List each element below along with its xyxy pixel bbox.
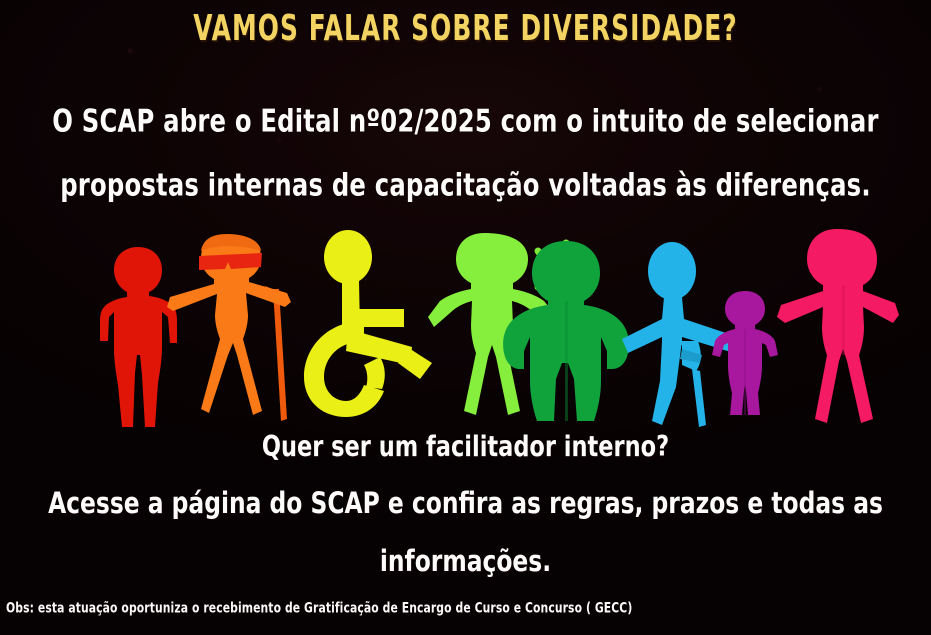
orange-person-with-cane [165, 231, 315, 431]
poster-canvas: VAMOS FALAR SOBRE DIVERSIDADE? O SCAP ab… [0, 0, 931, 635]
body-line-5: informações. [0, 545, 931, 579]
diversity-figures-row [0, 215, 931, 430]
pink-tall-person [775, 227, 900, 427]
body-line-3: Quer ser um facilitador interno? [0, 430, 931, 463]
footnote-text: Obs: esta atuação oportuniza o recebimen… [6, 600, 806, 616]
purple-child [710, 289, 780, 419]
body-line-2: propostas internas de capacitação voltad… [0, 168, 931, 203]
body-line-4: Acesse a página do SCAP e confira as reg… [0, 487, 931, 521]
page-title: VAMOS FALAR SOBRE DIVERSIDADE? [37, 8, 894, 49]
yellow-wheelchair-user [300, 229, 440, 419]
body-line-1: O SCAP abre o Edital nº02/2025 com o int… [0, 104, 931, 139]
green-large-person [500, 239, 635, 424]
